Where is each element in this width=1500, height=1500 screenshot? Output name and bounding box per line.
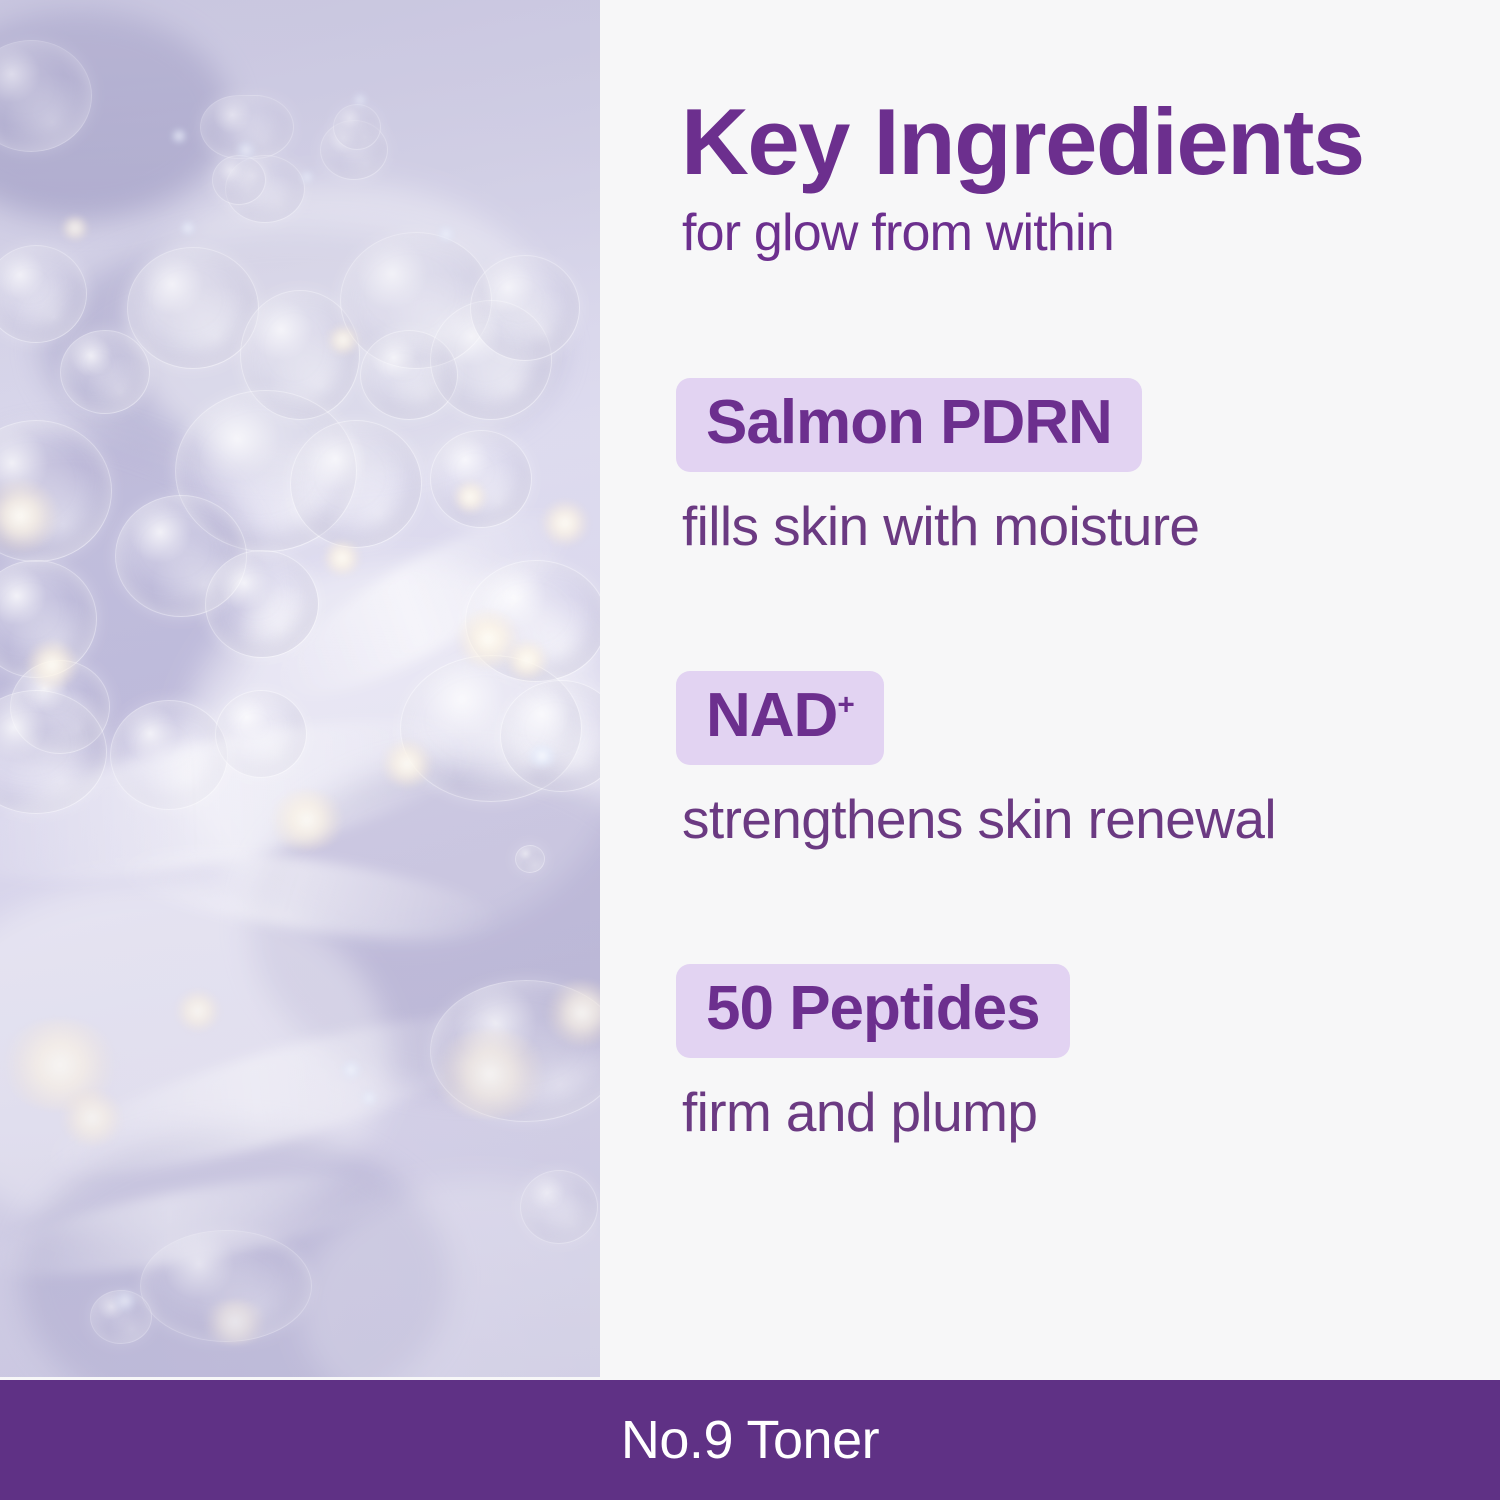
ingredient-name: 50 Peptides [706, 974, 1040, 1043]
ingredient-name-superscript: + [837, 688, 853, 721]
product-name-banner: No.9 Toner [0, 1380, 1500, 1500]
product-name: No.9 Toner [621, 1413, 879, 1467]
list-item: Salmon PDRN fills skin with moisture [600, 378, 1500, 556]
ingredient-name-badge: NAD+ [676, 671, 884, 765]
ingredient-description: fills skin with moisture [682, 498, 1500, 556]
content-area: Key Ingredients for glow from within Sal… [0, 0, 1500, 1377]
ingredient-name: NAD [706, 681, 837, 750]
ingredient-name: Salmon PDRN [706, 388, 1112, 457]
page-subtitle: for glow from within [682, 207, 1114, 259]
ingredient-description: strengthens skin renewal [682, 791, 1500, 849]
ingredient-description: firm and plump [682, 1084, 1500, 1142]
text-panel: Key Ingredients for glow from within Sal… [600, 0, 1500, 1377]
ingredients-list: Salmon PDRN fills skin with moisture NAD… [600, 378, 1500, 1141]
list-item: NAD+ strengthens skin renewal [600, 671, 1500, 849]
list-item: 50 Peptides firm and plump [600, 964, 1500, 1142]
page-title: Key Ingredients [681, 95, 1364, 189]
ingredient-name-badge: Salmon PDRN [676, 378, 1142, 472]
ingredient-name-badge: 50 Peptides [676, 964, 1070, 1058]
product-infographic: Key Ingredients for glow from within Sal… [0, 0, 1500, 1500]
gel-texture-photo [0, 0, 600, 1377]
